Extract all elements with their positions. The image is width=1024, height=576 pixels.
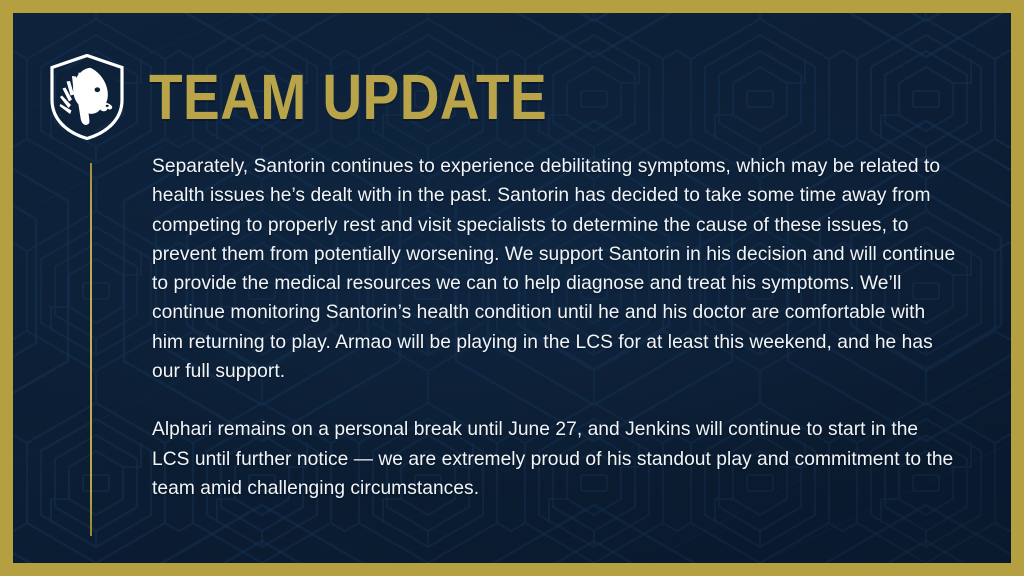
team-update-card: TEAM UPDATE Separately, Santorin continu… [0,0,1024,576]
gold-accent-rule [90,163,92,536]
team-liquid-horse-shield-logo [49,54,125,140]
paragraph-2: Alphari remains on a personal break unti… [152,415,957,503]
page-title: TEAM UPDATE [149,65,547,129]
body-copy: Separately, Santorin continues to experi… [152,152,957,503]
paragraph-1: Separately, Santorin continues to experi… [152,152,957,386]
